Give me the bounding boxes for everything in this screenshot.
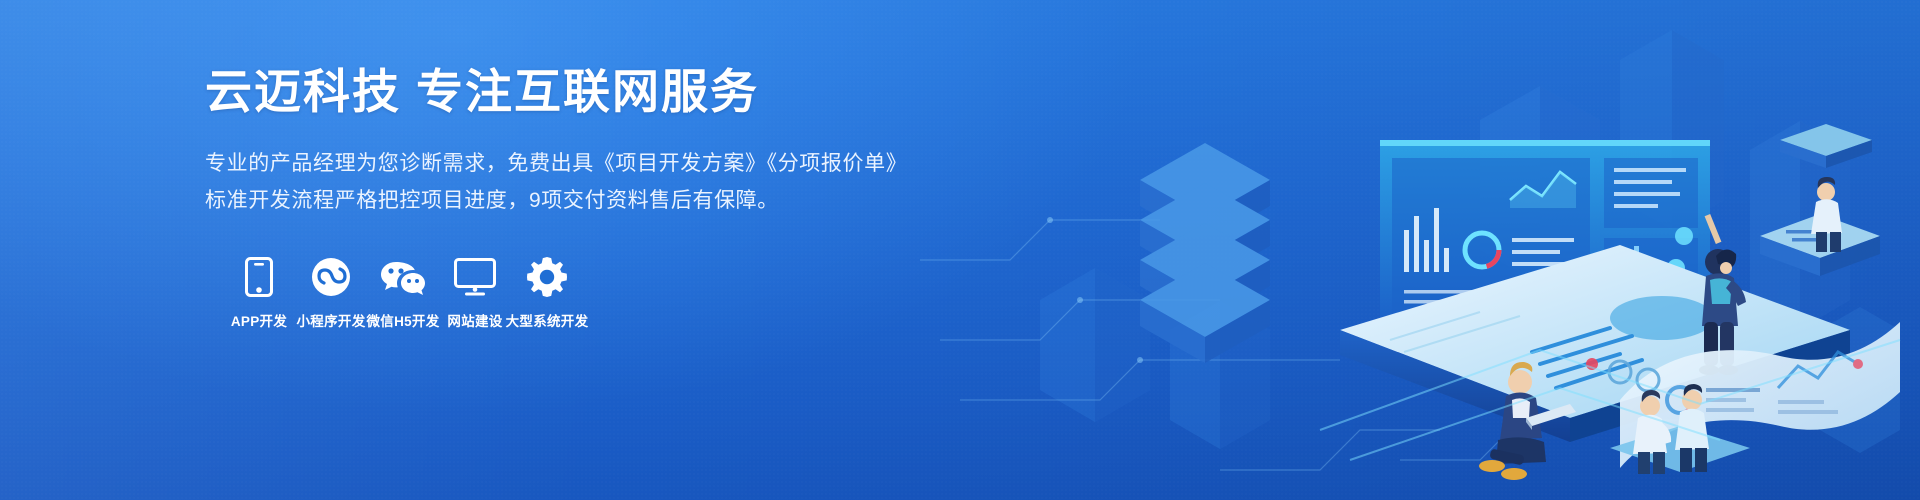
server-stack (1140, 143, 1270, 363)
service-label: 网站建设 (447, 310, 502, 330)
banner-content: 云迈科技 专注互联网服务 专业的产品经理为您诊断需求，免费出具《项目开发方案》《… (205, 64, 965, 330)
service-item-wechat[interactable]: 微信H5开发 (367, 256, 439, 330)
service-label: 小程序开发 (297, 310, 366, 330)
gear-icon (527, 256, 567, 298)
monitor-icon (454, 256, 496, 298)
service-item-website[interactable]: 网站建设 (439, 256, 511, 330)
service-list: APP开发 小程序开发 (223, 256, 965, 330)
banner-subtitle: 专业的产品经理为您诊断需求，免费出具《项目开发方案》《分项报价单》 标准开发流程… (205, 146, 965, 220)
hero-banner: 云迈科技 专注互联网服务 专业的产品经理为您诊断需求，免费出具《项目开发方案》《… (0, 0, 1920, 500)
service-label: APP开发 (231, 310, 287, 330)
service-label: 微信H5开发 (366, 310, 439, 330)
subtitle-line-1: 专业的产品经理为您诊断需求，免费出具《项目开发方案》《分项报价单》 (205, 146, 965, 183)
illustration-container (920, 0, 1920, 500)
service-item-system[interactable]: 大型系统开发 (511, 256, 583, 330)
wechat-icon (380, 256, 426, 298)
service-label: 大型系统开发 (506, 310, 589, 330)
page-title: 云迈科技 专注互联网服务 (205, 64, 965, 120)
mini-program-icon (311, 256, 351, 298)
subtitle-line-2: 标准开发流程严格把控项目进度，9项交付资料售后有保障。 (205, 183, 965, 220)
service-item-miniprogram[interactable]: 小程序开发 (295, 256, 367, 330)
mobile-phone-icon (245, 256, 273, 298)
service-item-app[interactable]: APP开发 (223, 256, 295, 330)
